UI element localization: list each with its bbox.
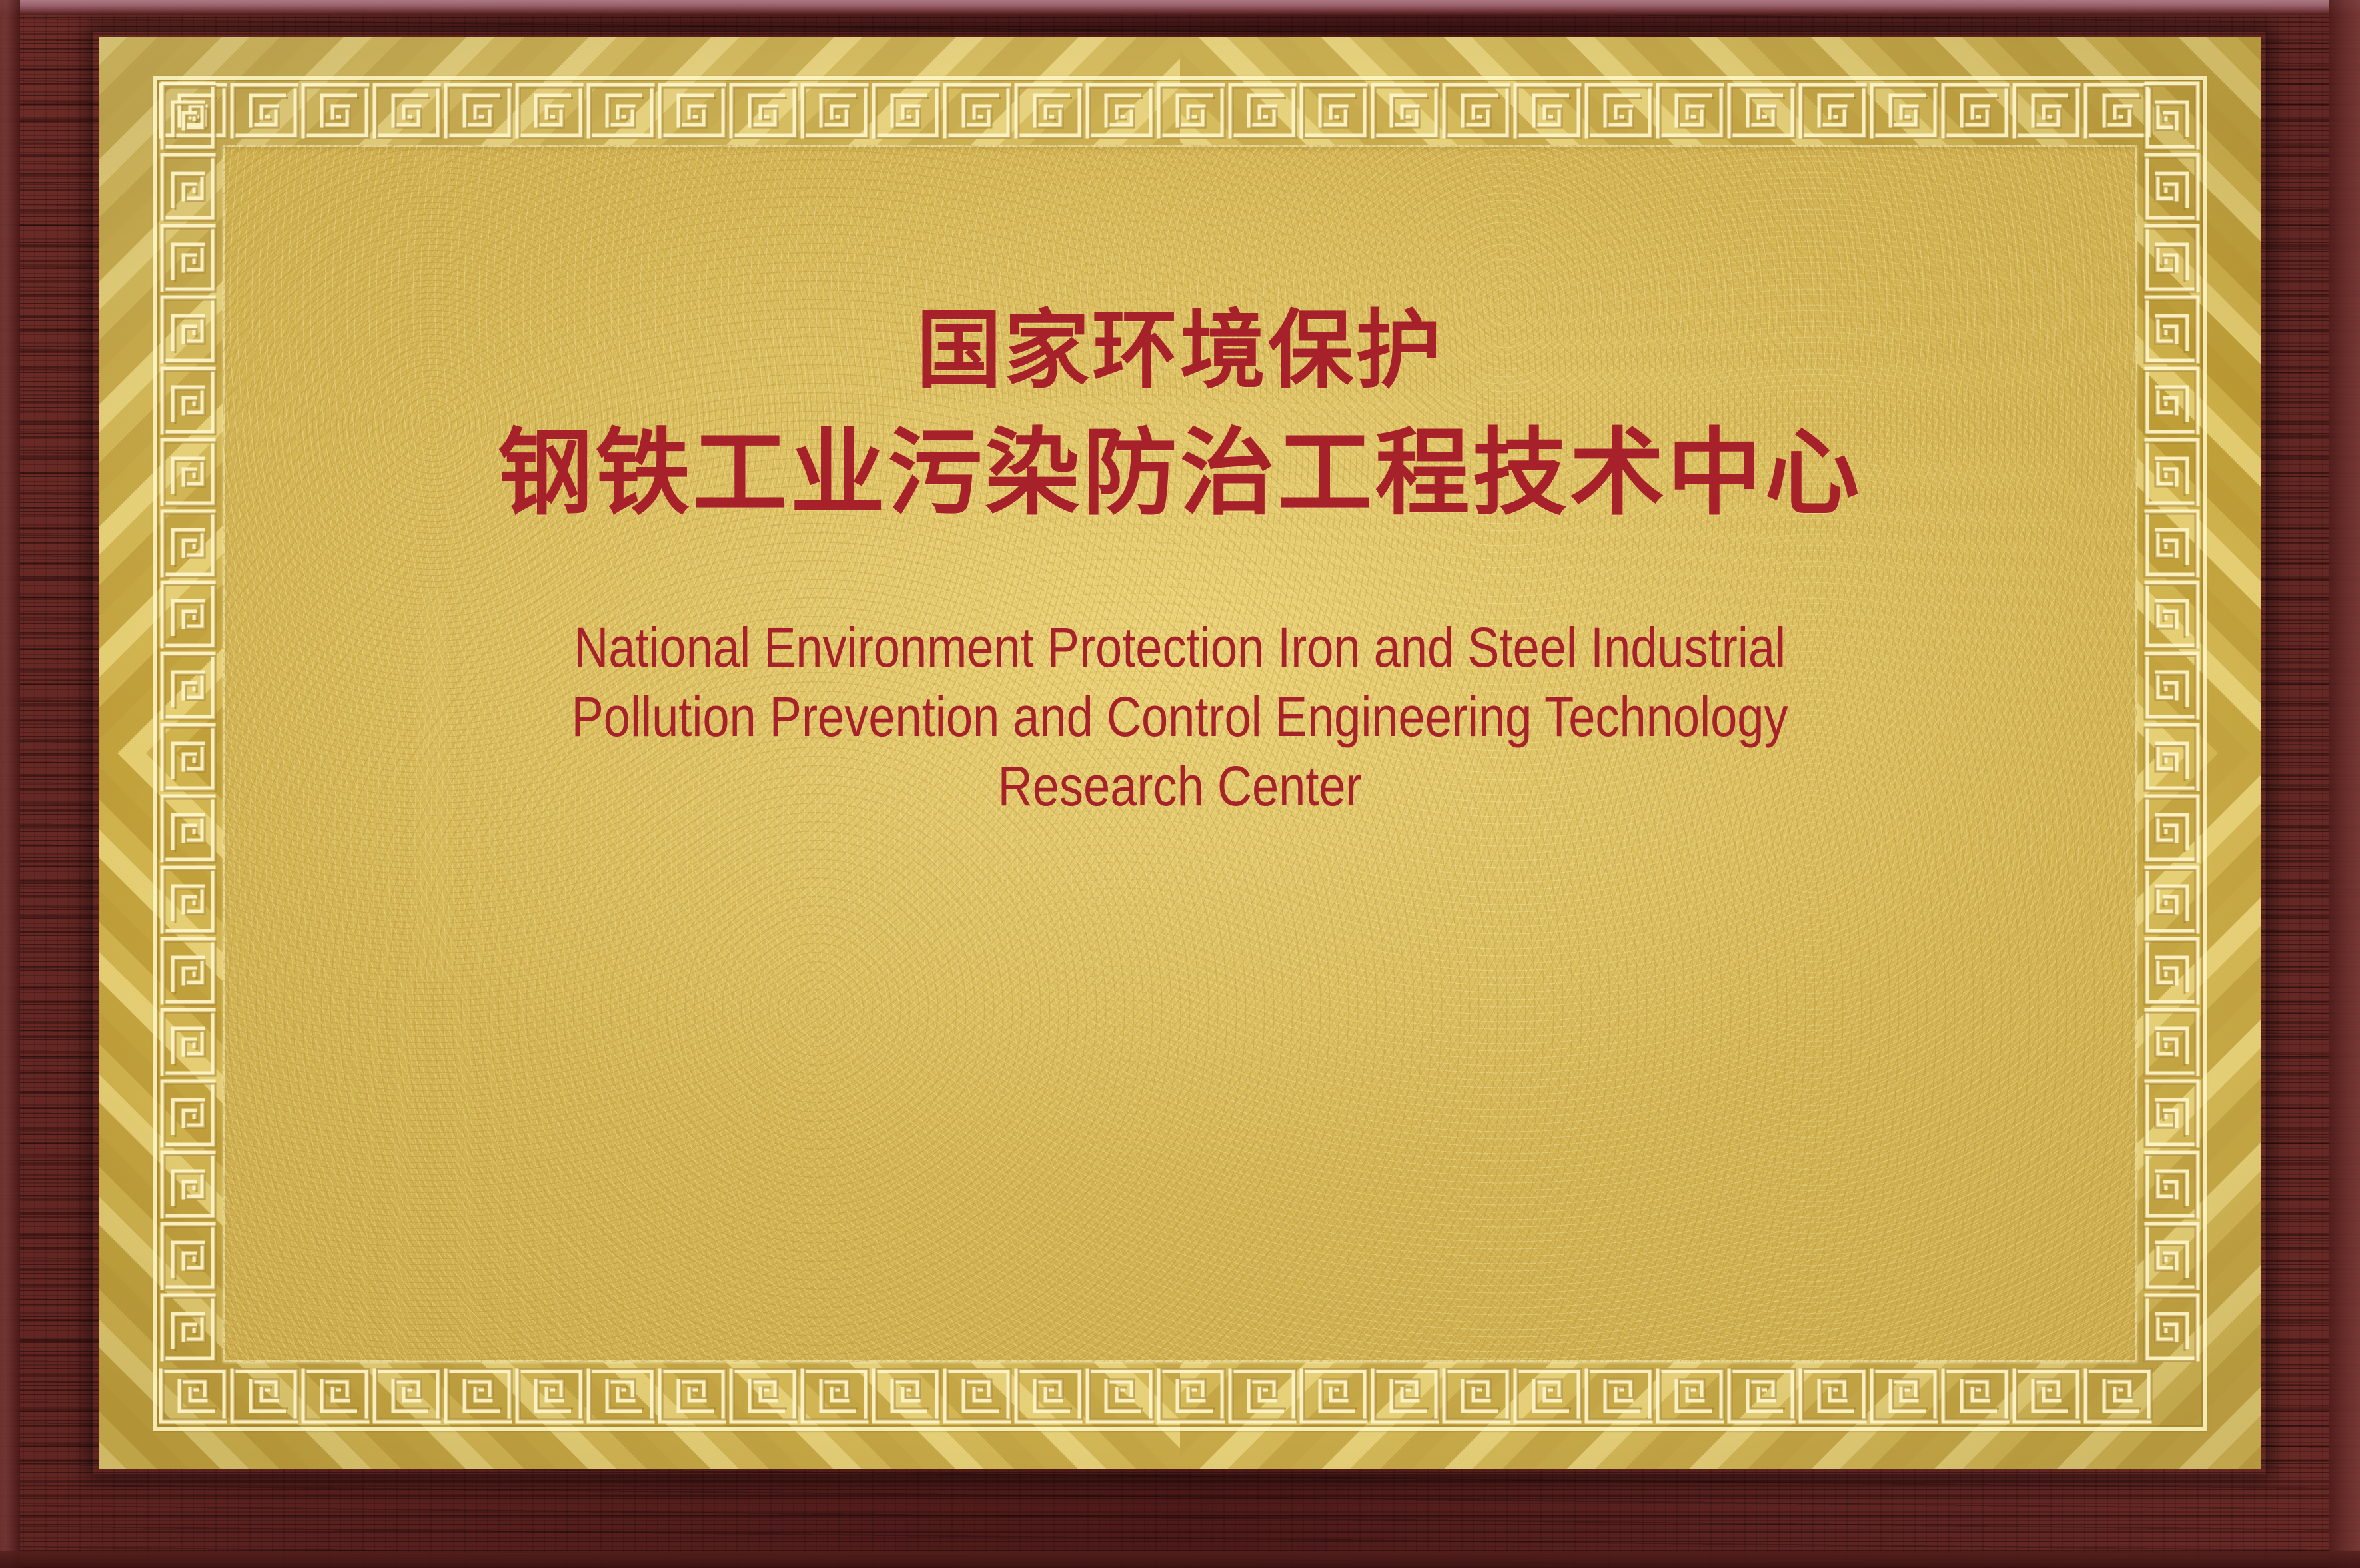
inner-panel: 国家环境保护 钢铁工业污染防治工程技术中心 National Environme… xyxy=(223,145,2137,1362)
meander-pattern-top xyxy=(157,80,2153,141)
meander-pattern-bottom xyxy=(157,1366,2153,1427)
meander-pattern-right xyxy=(2141,80,2203,1362)
chinese-title-line-2: 钢铁工业污染防治工程技术中心 xyxy=(498,422,1862,524)
english-title-line-3: Research Center xyxy=(572,751,1788,821)
frame-bevel-right xyxy=(2329,0,2360,1568)
english-title-block: National Environment Protection Iron and… xyxy=(572,613,1788,821)
frame-bevel-bottom xyxy=(0,1551,2360,1568)
english-title-line-1: National Environment Protection Iron and… xyxy=(572,613,1788,682)
gold-plate: 国家环境保护 钢铁工业污染防治工程技术中心 National Environme… xyxy=(99,37,2261,1469)
frame-bevel-left xyxy=(0,0,20,1568)
english-title-line-2: Pollution Prevention and Control Enginee… xyxy=(572,682,1788,751)
plaque-text-block: 国家环境保护 钢铁工业污染防治工程技术中心 National Environme… xyxy=(223,145,2137,1362)
frame-bevel-top xyxy=(0,0,2360,15)
award-plaque: 国家环境保护 钢铁工业污染防治工程技术中心 National Environme… xyxy=(0,0,2360,1568)
meander-pattern-left xyxy=(157,80,219,1362)
chinese-title-line-1: 国家环境保护 xyxy=(916,305,1443,397)
